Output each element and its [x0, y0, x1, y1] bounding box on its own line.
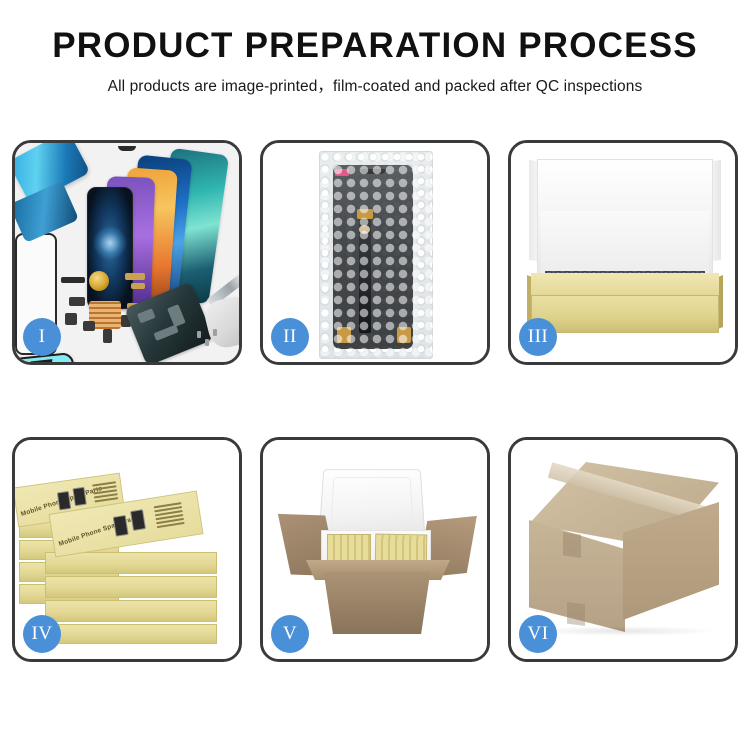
- step-panel-vi: VI: [508, 437, 738, 662]
- product-preparation-page: PRODUCT PREPARATION PROCESS All products…: [0, 0, 750, 750]
- step-panel-i: I: [12, 140, 242, 365]
- step-panel-iv: Mobile Phone Spare Parts Mobile Phone Sp…: [12, 437, 242, 662]
- chip-part-2-icon: [65, 313, 77, 325]
- flex-cable-1-icon: [125, 273, 145, 280]
- box-spec-lines-2: [154, 502, 185, 530]
- step-panel-iii: III: [508, 140, 738, 365]
- chip-part-1-icon: [69, 297, 85, 306]
- process-steps-grid: I II: [12, 140, 738, 685]
- page-header: PRODUCT PREPARATION PROCESS All products…: [0, 0, 750, 96]
- flex-cable-2-icon: [131, 283, 145, 289]
- step-badge-vi: VI: [519, 615, 557, 653]
- step-badge-iii: III: [519, 318, 557, 356]
- step-badge-i: I: [23, 318, 61, 356]
- stacked-box-r1: [45, 552, 217, 574]
- step-panel-ii: II: [260, 140, 490, 365]
- copper-coil-icon: [89, 271, 109, 291]
- box-foam-sheet-icon: [541, 211, 709, 273]
- step-panel-v: V: [260, 437, 490, 662]
- chip-part-3-icon: [83, 321, 95, 331]
- box-art-thumb-1: [57, 491, 71, 510]
- box-tray-top-icon: [531, 273, 719, 297]
- page-subtitle: All products are image-printed，film-coat…: [0, 74, 750, 96]
- carton-tab-lower-icon: [567, 602, 585, 626]
- page-title: PRODUCT PREPARATION PROCESS: [0, 28, 750, 65]
- box-spec-lines-1: [92, 481, 119, 504]
- carton-body-icon: [319, 572, 435, 634]
- step-badge-ii: II: [271, 318, 309, 356]
- screw-3-icon: [213, 329, 217, 336]
- step-badge-iv: IV: [23, 615, 61, 653]
- box-art-thumb-4: [130, 509, 146, 531]
- bubble-texture-overlay: [319, 151, 433, 359]
- stacked-box-r2: [45, 576, 217, 598]
- screw-1-icon: [197, 331, 201, 338]
- sim-tray-part-icon: [103, 329, 112, 343]
- carton-shadow: [531, 626, 717, 636]
- step-badge-v: V: [271, 615, 309, 653]
- box-art-thumb-2: [72, 487, 86, 506]
- carton-tab-upper-icon: [563, 532, 581, 558]
- speaker-part-icon: [61, 277, 85, 283]
- stacked-box-r4: [45, 624, 217, 644]
- box-tray-front-icon: [531, 295, 719, 333]
- foam-lid-icon: [319, 469, 426, 538]
- phone-black-cracked-icon: [87, 187, 133, 309]
- stacked-box-r3: [45, 600, 217, 622]
- screw-2-icon: [205, 339, 209, 346]
